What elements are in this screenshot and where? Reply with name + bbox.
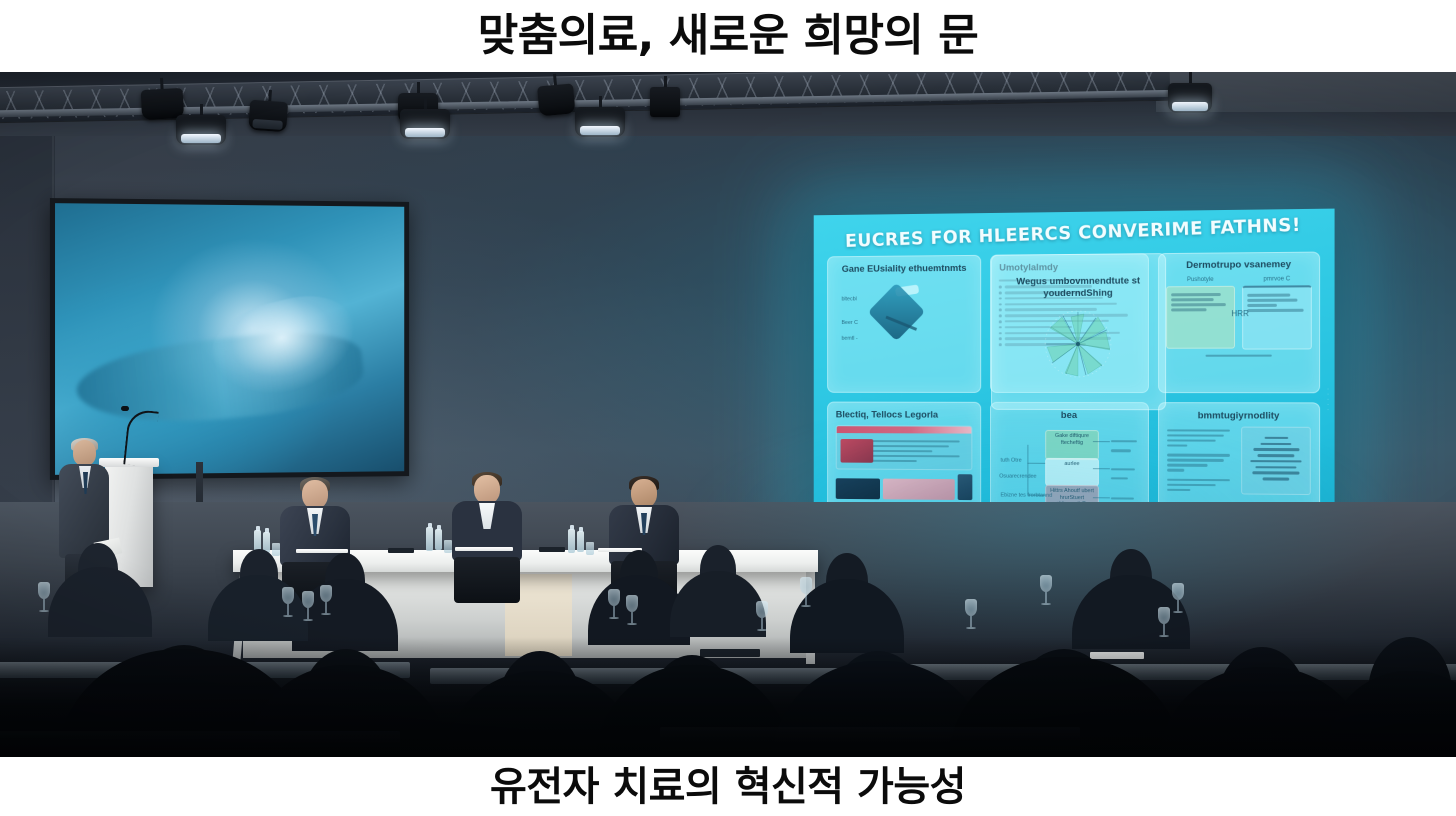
panelist-left (278, 480, 352, 600)
flow-node: aurlee (1045, 458, 1099, 486)
card-label: Beer C (841, 320, 857, 326)
presentation-heading: EUCRES FOR HLEERCS CONVERIME FATHNS! (814, 213, 1335, 253)
panelist-center (450, 475, 524, 595)
title-band-top: 맞춤의료, 새로운 희망의 문 (0, 0, 1456, 72)
flow-side-label: Ebizne tes frorbtannd (1001, 492, 1053, 498)
document-thumbnail-strip (836, 473, 973, 500)
subtitle-band-bottom: 유전자 치료의 혁신적 가능성 (0, 757, 1456, 816)
projection-screen-left (50, 198, 409, 480)
card-title: Dermotrupo vsanemey (1166, 259, 1312, 272)
card-title: Gane EUsiality ethuemtnmts (836, 263, 973, 276)
presentation-card: Gane EUsiality ethuemtnmts bltecbl Beer … (827, 255, 981, 393)
comparison-box-right (1242, 285, 1312, 349)
water-set (252, 530, 288, 556)
document-mock (836, 426, 973, 471)
paragraph-layout (1167, 427, 1311, 495)
microphone-head (121, 406, 129, 411)
presentation-side-code: · · · · · (1324, 388, 1330, 411)
comparison-box-left (1166, 286, 1235, 349)
flow-side-label: tuth Otre (1001, 457, 1022, 463)
wall-left-panel (0, 72, 55, 542)
paragraph-highlight-box (1241, 427, 1311, 495)
panel-papers (598, 548, 642, 552)
card-title: bea (999, 409, 1139, 421)
panel-tablet (539, 547, 565, 552)
page-subtitle: 유전자 치료의 혁신적 가능성 (490, 767, 966, 807)
flow-side-label: Osuarecrendee (999, 474, 1036, 480)
panel-papers (455, 547, 513, 551)
panelist-right (607, 479, 681, 599)
card-label: bltecbl (841, 296, 856, 302)
radial-network-diagram (1000, 305, 1157, 380)
microscope-icon: bltecbl Beer C bemtl - (836, 280, 973, 352)
paragraph-column (1167, 427, 1234, 494)
conference-photo: EUCRES FOR HLEERCS CONVERIME FATHNS! Gan… (0, 72, 1456, 757)
page-title: 맞춤의료, 새로운 희망의 문 (478, 14, 978, 58)
panel-papers (296, 549, 348, 553)
flow-node: Gake diftiqure ftecheftig (1045, 430, 1099, 460)
water-set (566, 529, 602, 555)
projected-image-hand (55, 203, 404, 475)
comparison-chart: Pushotyle pmrvoe C (1166, 276, 1312, 350)
panel-table-leg (806, 572, 815, 664)
presentation-card: Wegus umbovmnendtute st youderndShing (991, 253, 1166, 410)
comparison-right-label: pmrvoe C (1242, 276, 1312, 283)
slide-page: 맞춤의료, 새로운 희망의 문 (0, 0, 1456, 816)
card-label: bemtl - (841, 336, 857, 342)
card-title: Blectiq, Tellocs Legorla (836, 409, 973, 421)
podium-speaker (57, 440, 113, 600)
comparison-left-label: Pushotyle (1166, 277, 1235, 284)
presentation-card: Dermotrupo vsanemey Pushotyle (1158, 252, 1320, 393)
card-title: Wegus umbovmnendtute st youderndShing (1000, 275, 1157, 300)
panel-tablet (388, 548, 414, 553)
card-title: bmmtugiyrnodlity (1167, 410, 1311, 422)
comparison-connector: HRR (1231, 309, 1249, 318)
